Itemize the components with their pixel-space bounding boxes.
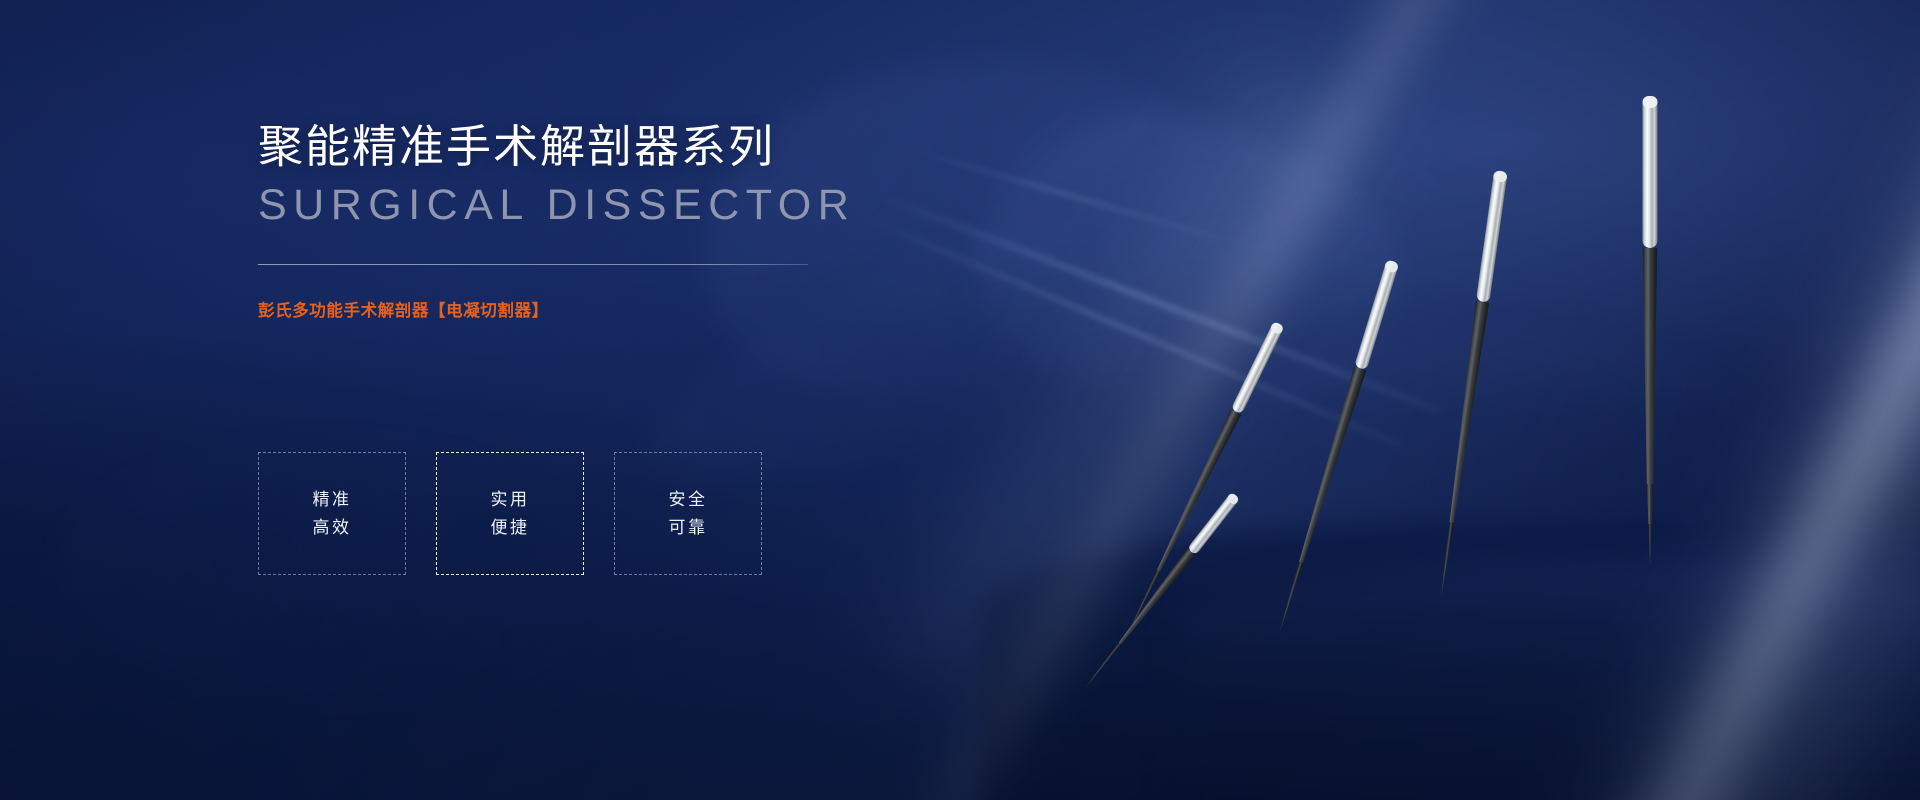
feature-line-2: 可靠 — [669, 519, 708, 536]
dissector-1 — [1081, 492, 1240, 691]
dissector-5 — [1643, 96, 1658, 566]
feature-box-safety[interactable]: 安全 可靠 — [614, 452, 762, 575]
dissector-3 — [1273, 259, 1399, 635]
divider — [258, 264, 808, 265]
feature-line-2: 便捷 — [491, 519, 530, 536]
page-subtitle-en: SURGICAL DISSECTOR — [258, 183, 898, 228]
feature-line-1: 实用 — [491, 491, 530, 508]
headline-block: 聚能精准手术解剖器系列 SURGICAL DISSECTOR 彭氏多功能手术解剖… — [258, 120, 898, 321]
page-title: 聚能精准手术解剖器系列 — [258, 120, 898, 173]
product-name-label: 彭氏多功能手术解剖器【电凝切割器】 — [258, 297, 898, 321]
dissector-4 — [1434, 170, 1507, 599]
feature-line-2: 高效 — [313, 519, 352, 536]
feature-box-precision[interactable]: 精准 高效 — [258, 452, 406, 575]
feature-box-group: 精准 高效 实用 便捷 安全 可靠 — [258, 452, 762, 575]
dissector-2 — [1123, 321, 1284, 635]
feature-box-practical[interactable]: 实用 便捷 — [436, 452, 584, 575]
feature-line-1: 安全 — [669, 491, 708, 508]
hero-banner: 聚能精准手术解剖器系列 SURGICAL DISSECTOR 彭氏多功能手术解剖… — [0, 0, 1920, 800]
feature-line-1: 精准 — [313, 491, 352, 508]
